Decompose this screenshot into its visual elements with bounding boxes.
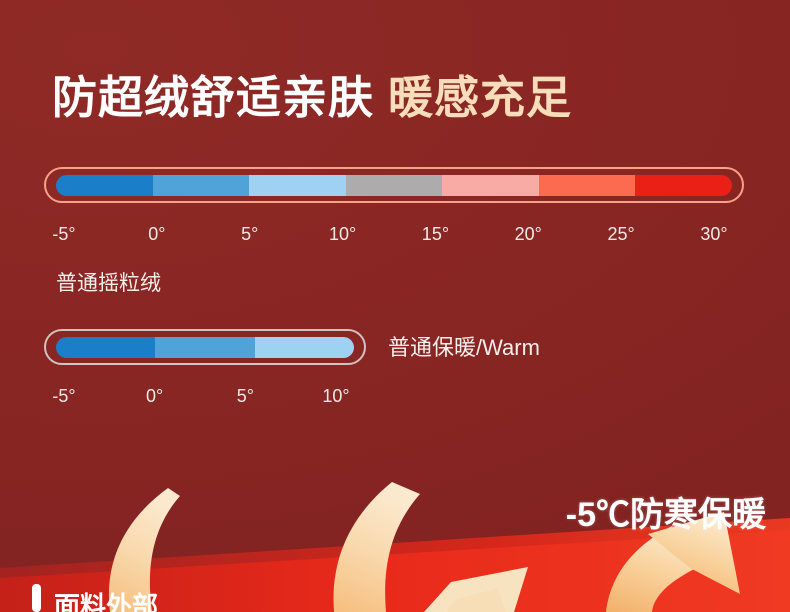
main-bar-tick-labels: -5°0°5°10°15°20°25°30° (44, 221, 744, 247)
tick-label: 10° (322, 383, 349, 409)
tick-label: 20° (515, 221, 542, 247)
section-marker-bar (32, 584, 41, 612)
title-accent: 暖感充足 (388, 72, 572, 123)
tick-label: 15° (422, 221, 449, 247)
cold-resistance-headline: -5℃防寒保暖 (566, 498, 766, 532)
temperature-segment (153, 175, 250, 196)
tick-label: 25° (608, 221, 635, 247)
page-title: 防超绒舒适亲肤暖感充足 (52, 75, 572, 120)
tick-label: 10° (329, 221, 356, 247)
temperature-segment (255, 337, 354, 358)
tick-label: -5° (52, 221, 75, 247)
tick-label: 5° (241, 221, 258, 247)
footer-text-fragment: 面料外部 (54, 593, 158, 612)
secondary-bar-tick-labels: -5°0°5°10° (44, 383, 366, 409)
temperature-segment (249, 175, 346, 196)
poster-canvas: 防超绒舒适亲肤暖感充足 -5°0°5°10°15°20°25°30° 普通摇粒绒… (0, 0, 790, 612)
secondary-temperature-bar (56, 337, 354, 358)
tick-label: 0° (146, 383, 163, 409)
tick-label: 0° (148, 221, 165, 247)
temperature-segment (635, 175, 732, 196)
temperature-segment (442, 175, 539, 196)
temperature-segment (155, 337, 254, 358)
temperature-segment (539, 175, 636, 196)
temperature-segment (56, 175, 153, 196)
tick-label: 30° (700, 221, 727, 247)
title-primary: 防超绒舒适亲肤 (52, 72, 374, 123)
main-temperature-bar (56, 175, 732, 196)
temperature-segment (346, 175, 443, 196)
tick-label: 5° (237, 383, 254, 409)
warmth-rating-label: 普通保暖/Warm (388, 337, 540, 359)
tick-label: -5° (52, 383, 75, 409)
temperature-segment (56, 337, 155, 358)
secondary-product-label: 普通摇粒绒 (56, 273, 161, 294)
